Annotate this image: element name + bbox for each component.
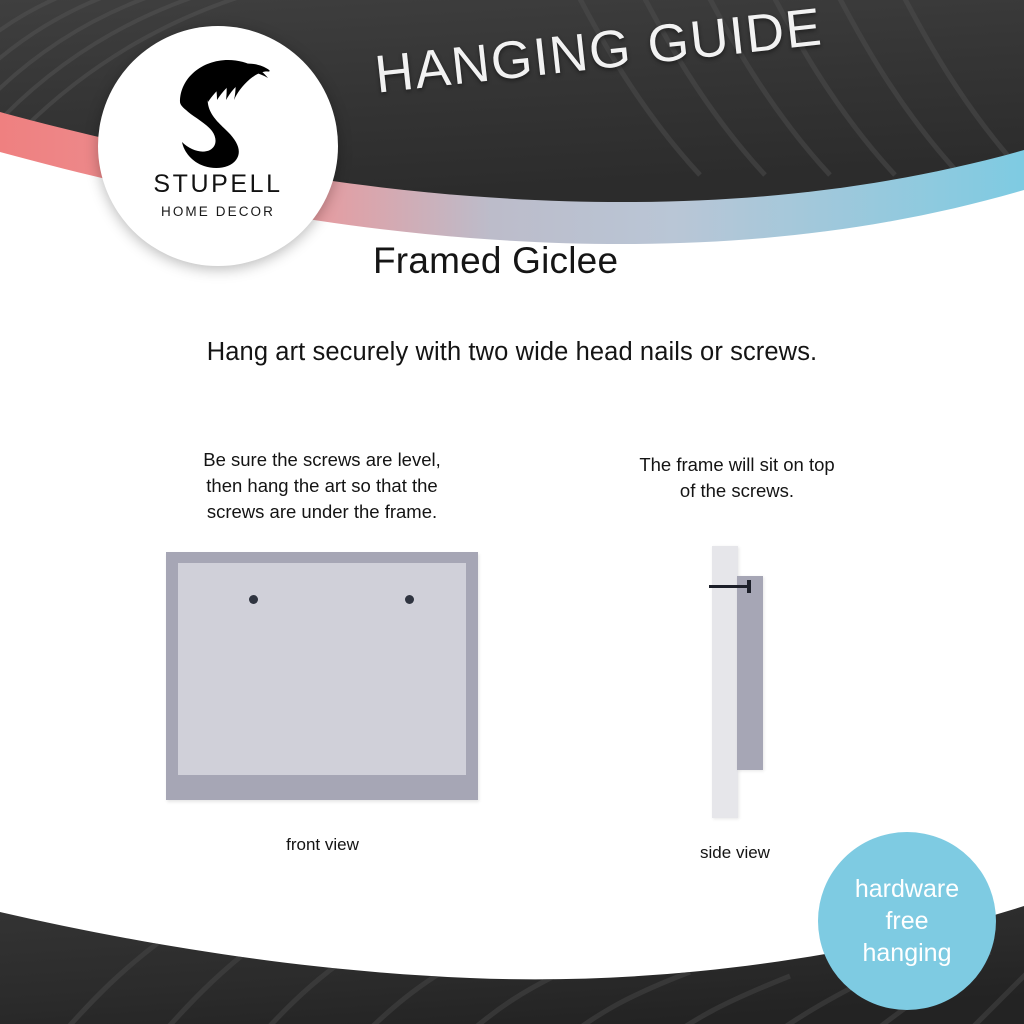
side-view-diagram (700, 540, 810, 825)
screw-shaft-icon (709, 585, 749, 588)
logo-wordmark: STUPELL (153, 172, 282, 197)
screw-dot-left-icon (249, 595, 258, 604)
page-title: HANGING GUIDE (372, 0, 825, 106)
side-caption-line-1: The frame will sit on top (592, 452, 882, 478)
stupell-swan-icon (162, 52, 274, 170)
front-view-diagram (166, 552, 478, 800)
screw-dot-right-icon (405, 595, 414, 604)
logo-tagline: HOME DECOR (161, 204, 275, 219)
front-caption-line-2: then hang the art so that the (148, 473, 496, 499)
front-view-label: front view (170, 835, 475, 855)
side-caption-line-2: of the screws. (592, 478, 882, 504)
front-view-caption: Be sure the screws are level, then hang … (148, 447, 496, 525)
hardware-free-hanging-badge: hardware free hanging (818, 832, 996, 1010)
brand-logo-badge: STUPELL HOME DECOR (98, 26, 338, 266)
front-caption-line-1: Be sure the screws are level, (148, 447, 496, 473)
side-view-label: side view (640, 843, 830, 863)
hanging-guide-page: HANGING GUIDE STUPELL HOME DECOR Framed … (0, 0, 1024, 1024)
side-view-caption: The frame will sit on top of the screws. (592, 452, 882, 504)
badge-line-2: free (885, 905, 928, 937)
badge-line-3: hanging (863, 937, 952, 969)
frame-mat-area (178, 563, 466, 775)
product-type-label: Framed Giclee (373, 240, 618, 282)
front-caption-line-3: screws are under the frame. (148, 499, 496, 525)
frame-profile-bar (737, 576, 763, 770)
badge-line-1: hardware (855, 873, 959, 905)
screw-head-icon (747, 580, 751, 593)
main-instruction-text: Hang art securely with two wide head nai… (0, 338, 1024, 367)
